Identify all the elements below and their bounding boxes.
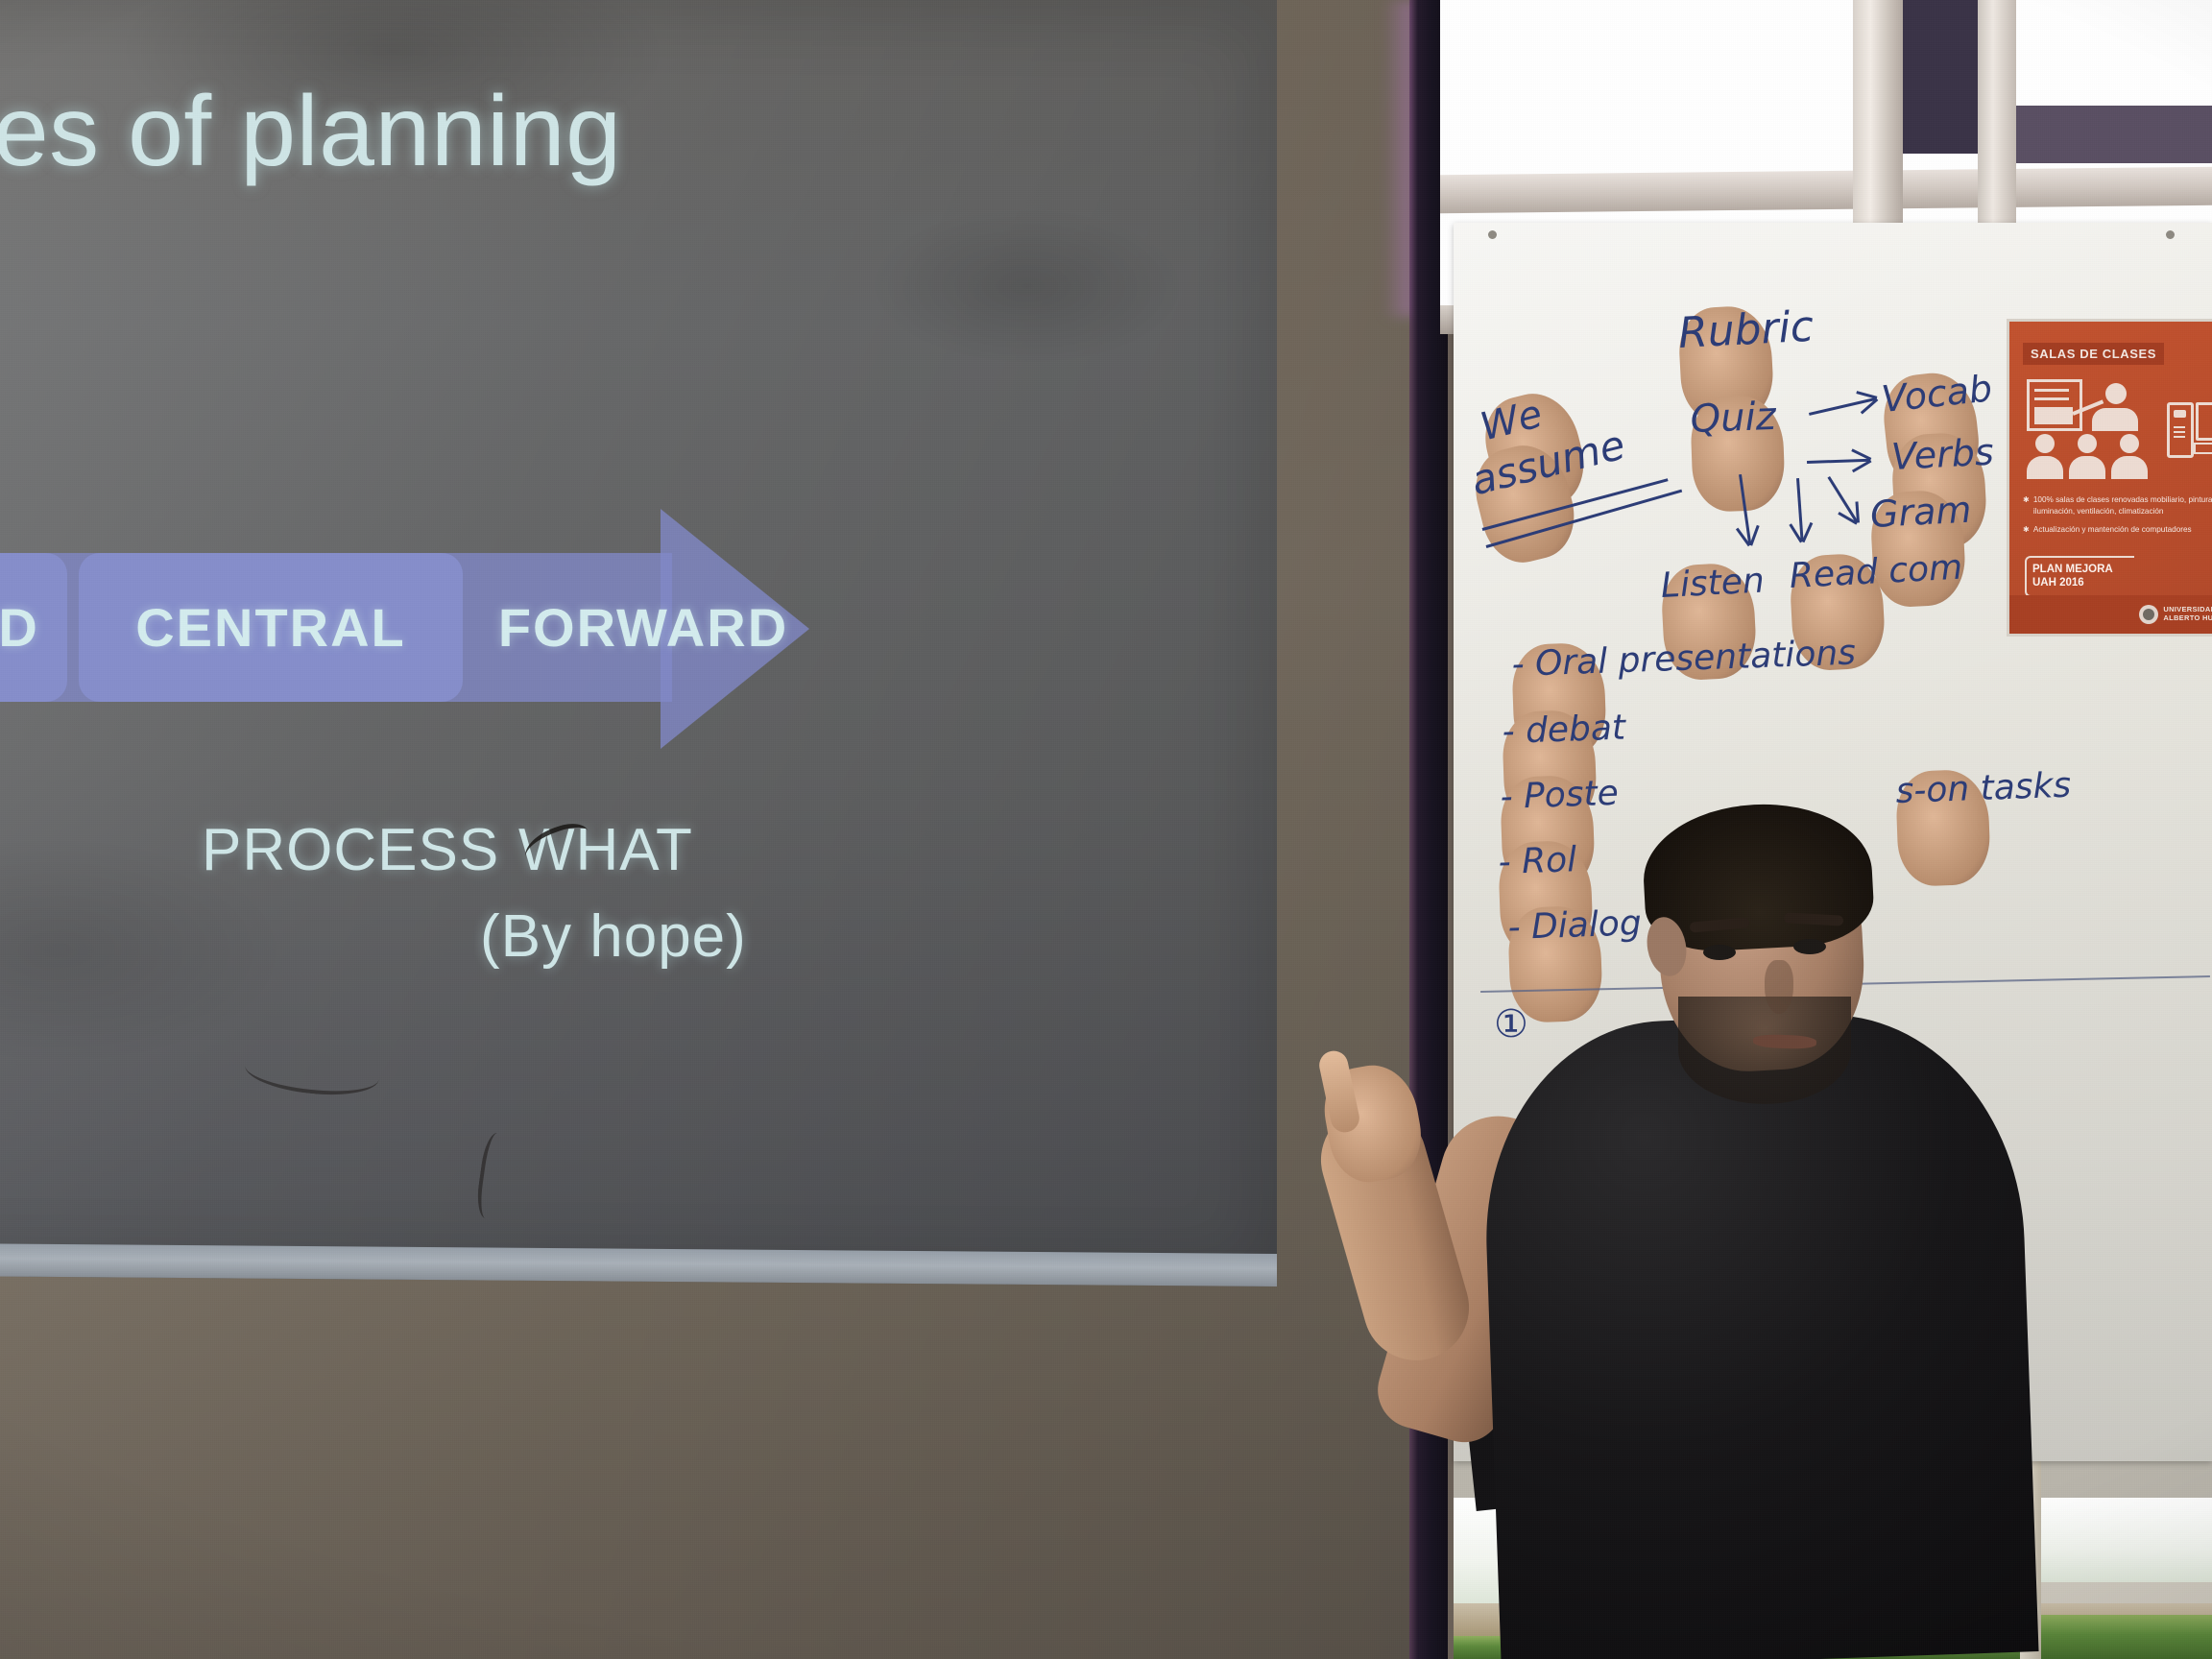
window-mullion-horizontal [1440, 167, 2212, 213]
poster-illustration [2023, 375, 2212, 483]
poster-cta-line1: PLAN MEJORA [2032, 563, 2128, 576]
note-assume: assume [1466, 437, 1583, 571]
planning-label-row: OMES PROCESS WHAT (By hope) [0, 806, 970, 1018]
poster-title: SALAS DE CLASES [2023, 343, 2164, 365]
poster-bullet: ✱ Actualización y mantención de computad… [2023, 524, 2212, 536]
window-pane [2041, 1498, 2212, 1582]
poster-footer: UNIVERSIDAD ALBERTO HURTADO [2009, 595, 2212, 634]
poster-university-line2: ALBERTO HURTADO [2163, 614, 2212, 623]
label-what: WHAT [518, 816, 693, 884]
chip-forward: FORWARD [470, 553, 816, 702]
poster-salas-de-clases: SALAS DE CLASES ✱ 100% sa [2007, 319, 2212, 637]
poster-teacher-body-icon [2092, 408, 2138, 431]
poster-student-icon [2111, 434, 2148, 479]
presenter-beard [1678, 997, 1851, 1104]
note-circled-one: ① [1494, 1002, 1528, 1046]
poster-cta: PLAN MEJORA UAH 2016 [2025, 556, 2134, 597]
bullet-hands-on-tasks: s-on tasks [1895, 769, 1991, 887]
asterisk-icon: ✱ [2023, 524, 2030, 536]
presenter-torso-shirt [1479, 1008, 2038, 1659]
slide-title: ypes of planning [0, 75, 621, 189]
whiteboard-mount-screw [1488, 230, 1497, 239]
poster-university-name: UNIVERSIDAD ALBERTO HURTADO [2163, 606, 2212, 622]
planning-arrow-diagram: KWARD CENTRAL FORWARD [0, 509, 960, 749]
poster-teacher-icon [2105, 383, 2127, 404]
poster-keyboard-icon [2194, 443, 2212, 454]
presenter-eye [1703, 945, 1736, 960]
window-dark-pane [2016, 106, 2212, 163]
presenter-nose [1765, 960, 1793, 1014]
whiteboard-mount-screw [2166, 230, 2175, 239]
poster-student-icon [2027, 434, 2063, 479]
poster-student-icon [2069, 434, 2105, 479]
window-pane-foliage [2041, 1615, 2212, 1659]
poster-cta-line2: UAH 2016 [2032, 576, 2128, 589]
chip-central: CENTRAL [79, 553, 463, 702]
note-quiz: Quiz [1690, 395, 1786, 513]
window-dark-pane [1903, 0, 1978, 154]
poster-bullets: ✱ 100% salas de clases renovadas mobilia… [2023, 494, 2212, 542]
poster-bullet-text: 100% salas de clases renovadas mobiliari… [2033, 494, 2212, 517]
poster-board-icon [2027, 379, 2082, 431]
asterisk-icon: ✱ [2023, 494, 2030, 517]
chip-backward: KWARD [0, 553, 67, 702]
poster-bullet-text: Actualización y mantención de computador… [2033, 524, 2192, 536]
university-logo-icon [2139, 605, 2158, 624]
presenter-eye [1793, 939, 1826, 954]
poster-monitor-icon [2196, 402, 2212, 441]
label-by-hope: (By hope) [480, 902, 747, 971]
poster-computer-tower-icon [2167, 402, 2194, 458]
photo-scene: ypes of planning KWARD CENTRAL FORWARD O… [0, 0, 2212, 1659]
label-process: PROCESS [202, 816, 499, 884]
poster-bullet: ✱ 100% salas de clases renovadas mobilia… [2023, 494, 2212, 517]
